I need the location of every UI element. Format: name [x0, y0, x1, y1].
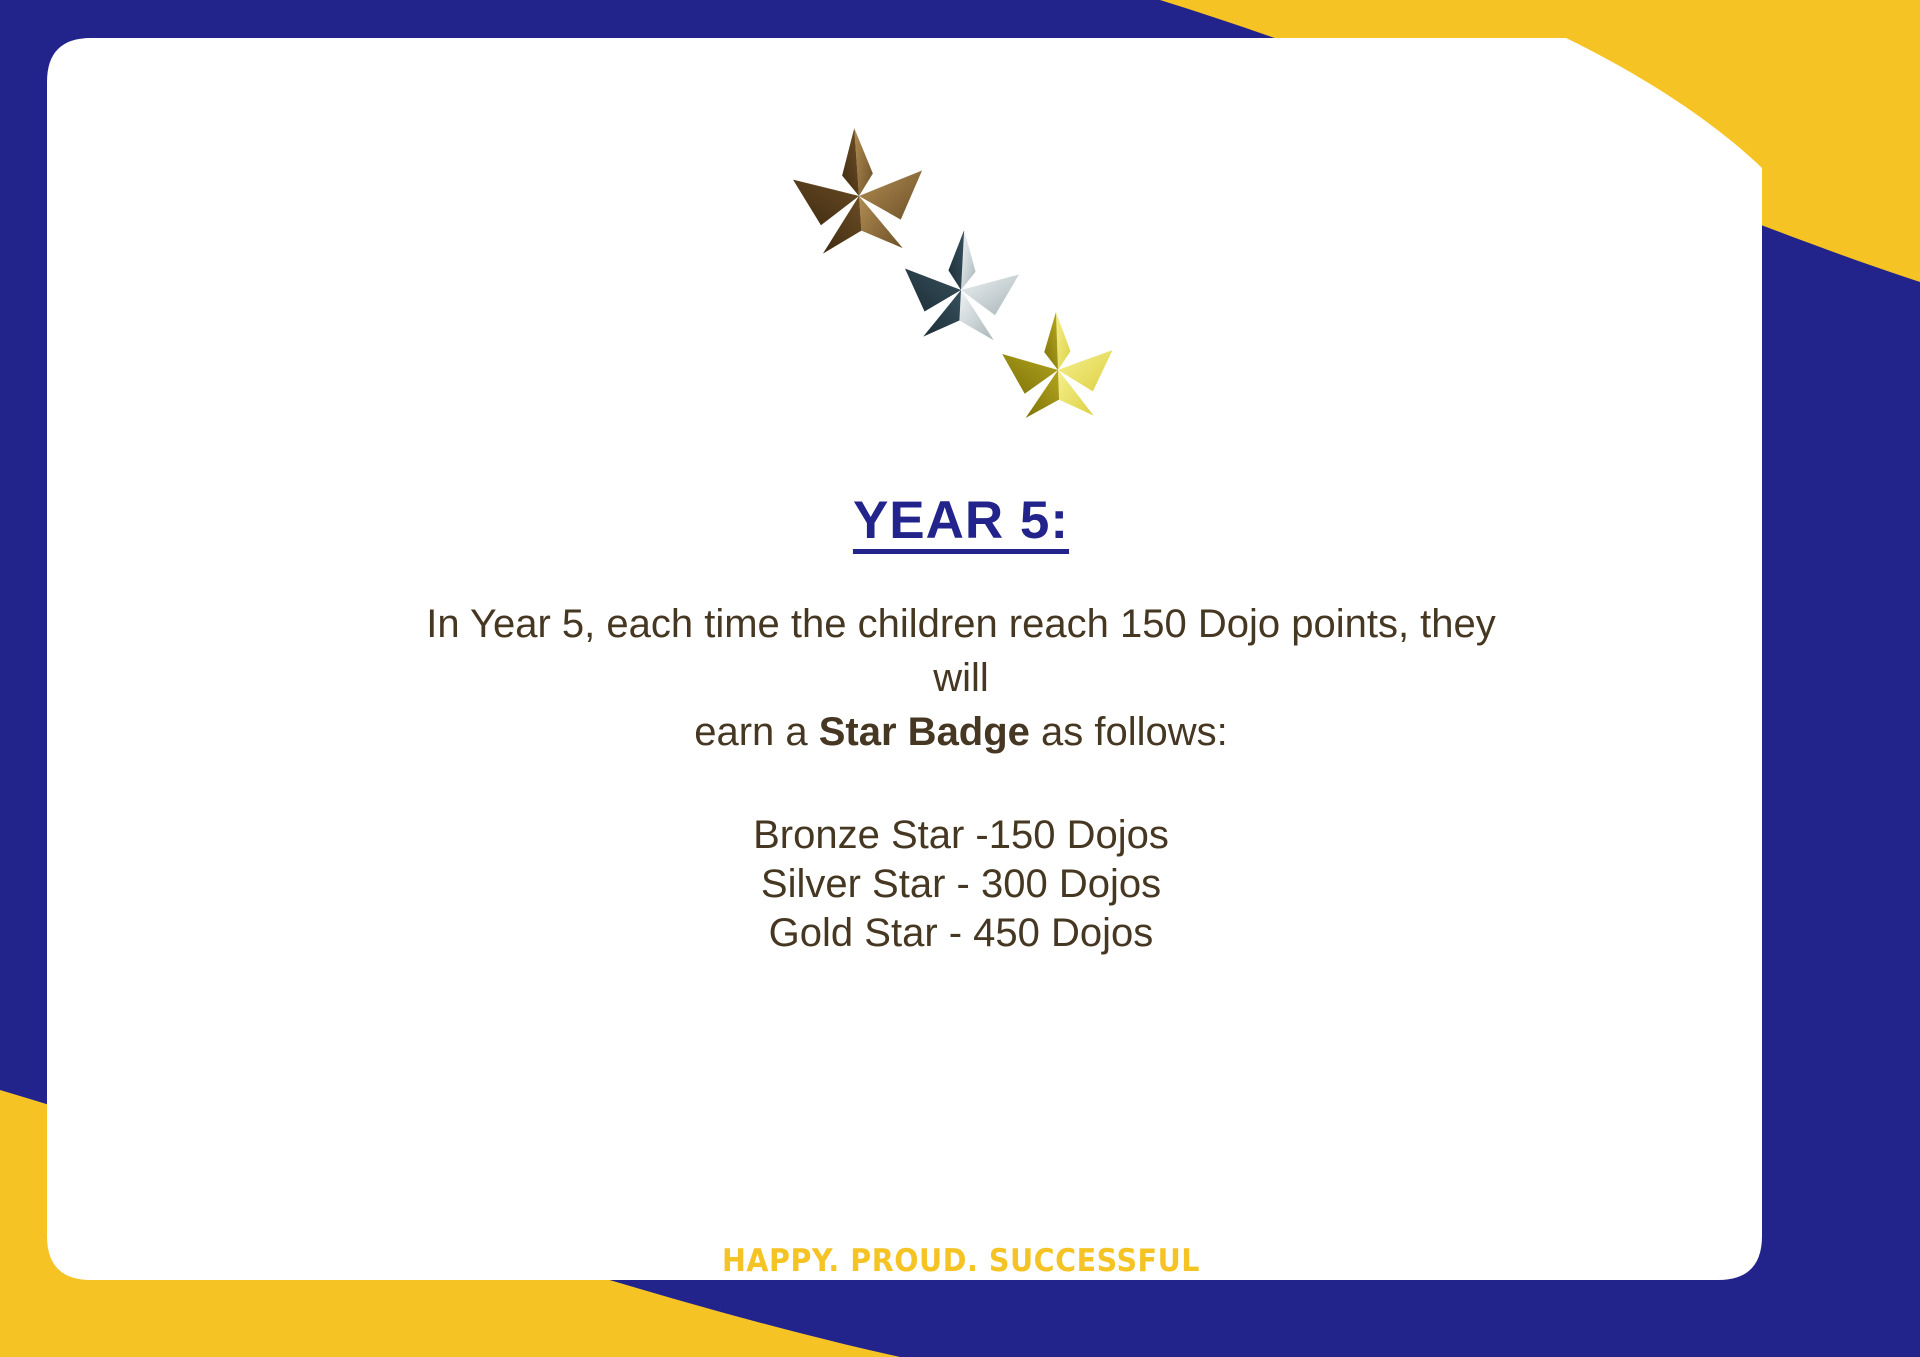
body-line-3-prefix: earn a — [694, 710, 819, 754]
body-line-2: will — [336, 651, 1586, 705]
body-text: In Year 5, each time the children reach … — [251, 597, 1671, 957]
star-badge-cluster — [781, 118, 1141, 428]
star-cluster-svg — [781, 118, 1141, 428]
body-line-3: earn a Star Badge as follows: — [336, 705, 1586, 759]
school-motto: HAPPY. PROUD. SUCCESSFUL — [120, 1243, 1802, 1279]
text-spacer — [251, 759, 1671, 811]
list-item: Gold Star - 450 Dojos — [251, 909, 1671, 958]
slide-canvas: YEAR 5: In Year 5, each time the childre… — [0, 0, 1920, 1357]
list-item: Bronze Star -150 Dojos — [251, 811, 1671, 860]
silver-star — [901, 227, 1021, 341]
page-title: YEAR 5: — [853, 490, 1069, 551]
tier-list: Bronze Star -150 Dojos Silver Star - 300… — [251, 811, 1671, 957]
gold-star — [1001, 310, 1115, 419]
star-badge-emphasis: Star Badge — [819, 710, 1030, 754]
body-line-3-suffix: as follows: — [1030, 710, 1228, 754]
body-line-1: In Year 5, each time the children reach … — [336, 597, 1586, 651]
list-item: Silver Star - 300 Dojos — [251, 860, 1671, 909]
bronze-star — [790, 124, 928, 256]
slide-content: YEAR 5: In Year 5, each time the childre… — [47, 38, 1875, 1280]
